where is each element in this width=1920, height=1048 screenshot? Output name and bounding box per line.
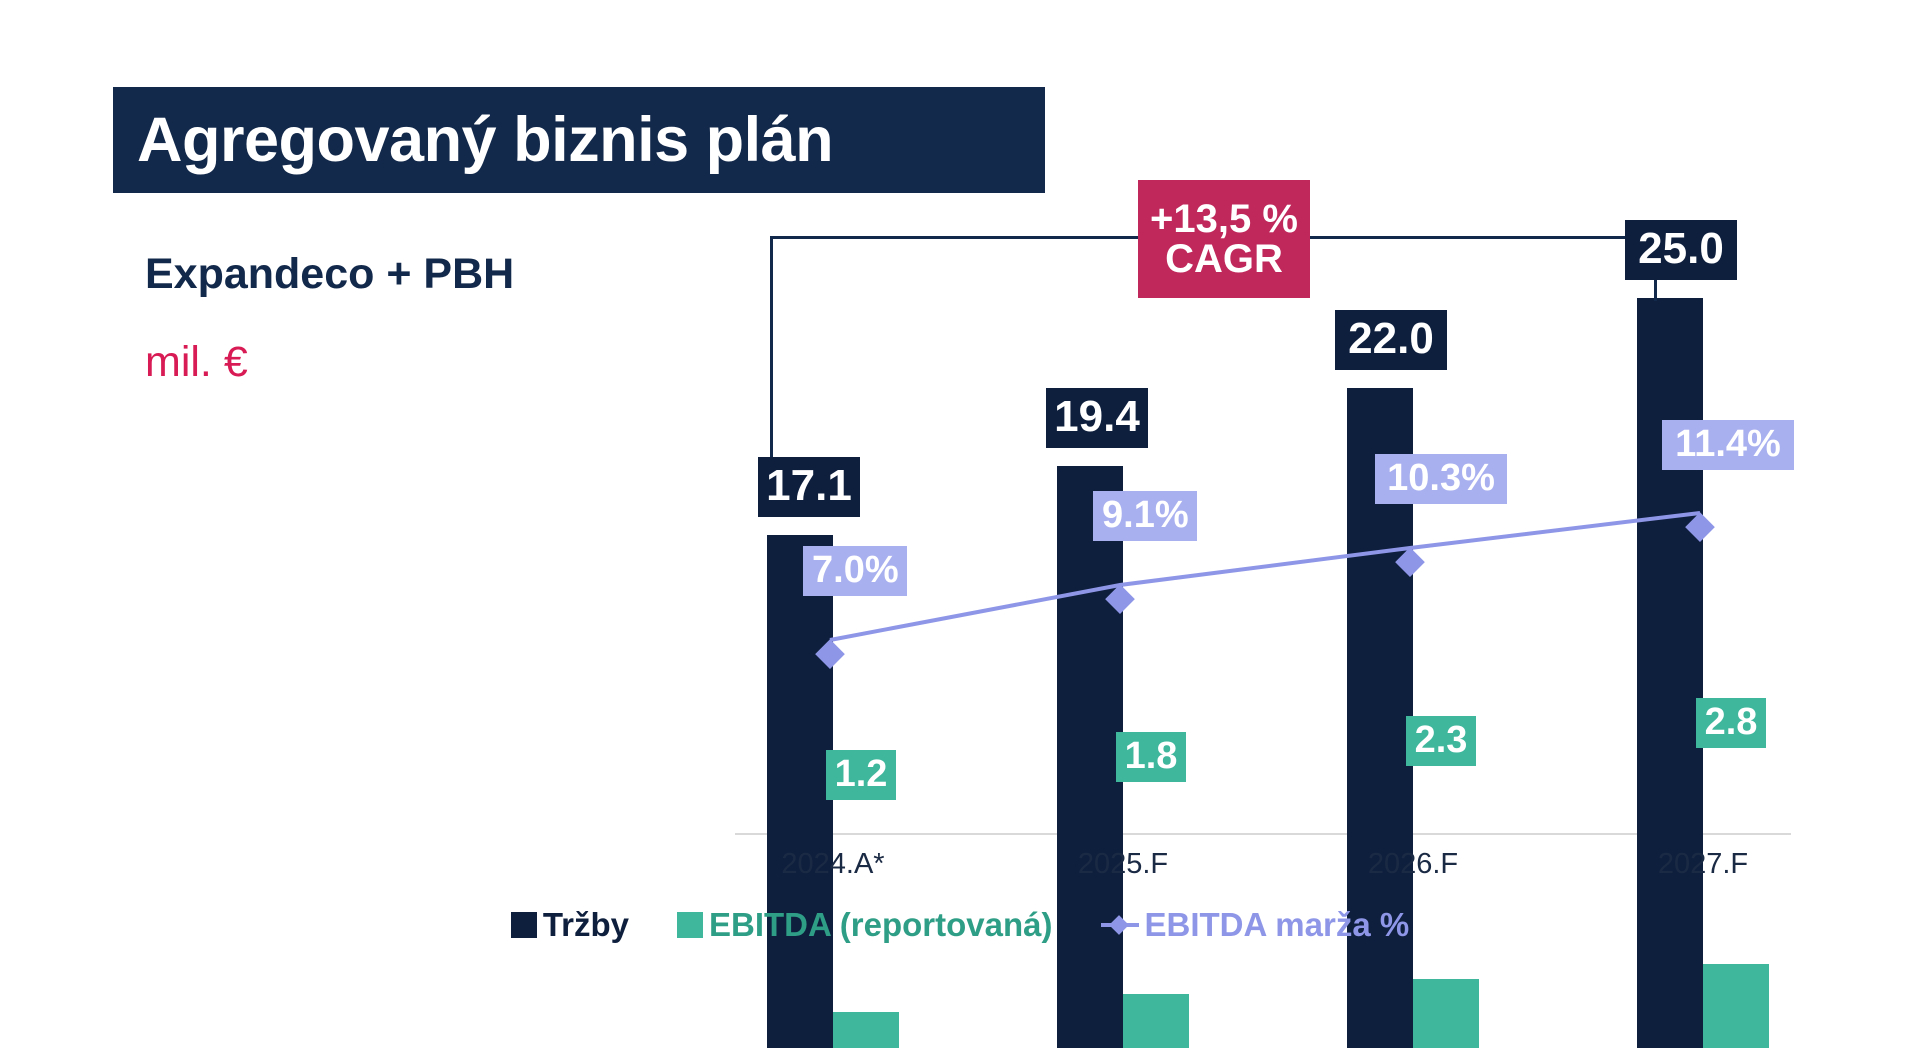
value-label-ebitda-2026: 2.3 <box>1406 716 1476 766</box>
cagr-label: CAGR <box>1165 239 1283 279</box>
cagr-bracket-left-vertical <box>770 236 773 458</box>
chart-canvas: Agregovaný biznis plán Expandeco + PBH m… <box>0 0 1920 1048</box>
bar-revenue-2025 <box>1057 466 1123 1048</box>
value-label-revenue-2024: 17.1 <box>758 457 860 517</box>
cagr-value: +13,5 % <box>1150 199 1298 239</box>
legend-label-ebitda-marza: EBITDA marža % <box>1145 906 1410 944</box>
plot-area: 17.1 7.0% 1.2 2024.A* 19.4 9.1% 1.8 2025… <box>0 0 1920 1048</box>
value-label-margin-2027: 11.4% <box>1662 420 1794 470</box>
x-tick-2024: 2024.A* <box>753 848 913 881</box>
x-tick-2027: 2027.F <box>1623 848 1783 881</box>
cagr-badge: +13,5 % CAGR <box>1138 180 1310 298</box>
x-axis-baseline <box>735 833 1791 835</box>
legend-item-ebitda[interactable]: EBITDA (reportovaná) <box>677 906 1052 944</box>
legend-item-ebitda-marza[interactable]: EBITDA marža % <box>1101 906 1410 944</box>
bar-ebitda-2026 <box>1413 979 1479 1048</box>
value-label-revenue-2025: 19.4 <box>1046 388 1148 448</box>
legend-label-trzby: Tržby <box>543 906 629 944</box>
cagr-bracket-left-horizontal <box>770 236 1145 239</box>
cagr-bracket-right-horizontal <box>1305 236 1657 239</box>
value-label-margin-2025: 9.1% <box>1093 491 1197 541</box>
square-navy-icon <box>511 912 537 938</box>
value-label-revenue-2027: 25.0 <box>1625 220 1737 280</box>
value-label-ebitda-2024: 1.2 <box>826 750 896 800</box>
diamond-line-lavender-icon <box>1101 912 1139 938</box>
bar-ebitda-2025 <box>1123 994 1189 1048</box>
value-label-margin-2026: 10.3% <box>1375 454 1507 504</box>
value-label-ebitda-2025: 1.8 <box>1116 732 1186 782</box>
x-tick-2025: 2025.F <box>1043 848 1203 881</box>
legend-label-ebitda: EBITDA (reportovaná) <box>709 906 1052 944</box>
chart-legend: Tržby EBITDA (reportovaná) EBITDA marža … <box>0 906 1920 944</box>
bar-ebitda-2027 <box>1703 964 1769 1048</box>
square-teal-icon <box>677 912 703 938</box>
bar-ebitda-2024 <box>833 1012 899 1048</box>
value-label-margin-2024: 7.0% <box>803 546 907 596</box>
value-label-revenue-2026: 22.0 <box>1335 310 1447 370</box>
legend-item-trzby[interactable]: Tržby <box>511 906 629 944</box>
x-tick-2026: 2026.F <box>1333 848 1493 881</box>
value-label-ebitda-2027: 2.8 <box>1696 698 1766 748</box>
bar-revenue-2024 <box>767 535 833 1048</box>
ebitda-margin-line <box>0 0 1920 1048</box>
